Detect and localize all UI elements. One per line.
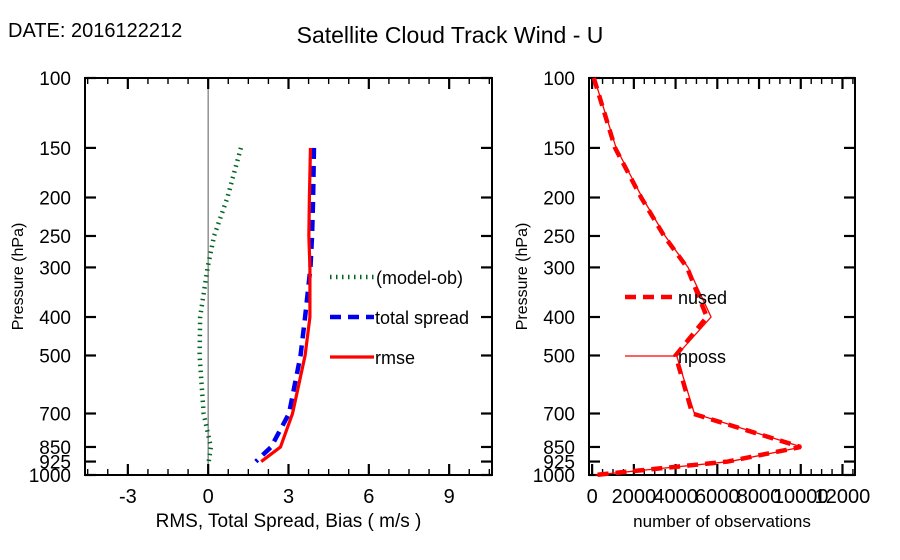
legend-label: nposs <box>678 347 726 367</box>
y-tick-label: 500 <box>39 346 71 367</box>
legend-label: rmse <box>375 348 415 368</box>
x-tick-label: 4000 <box>653 486 698 508</box>
y-tick-label: 1000 <box>533 466 575 487</box>
x-axis-title: RMS, Total Spread, Bias ( m/s ) <box>156 511 422 532</box>
legend-label: total spread <box>375 308 469 328</box>
y-tick-label: 250 <box>543 227 575 248</box>
y-tick-label: 500 <box>543 346 575 367</box>
y-tick-label: 300 <box>543 258 575 279</box>
series-line-nused <box>594 78 801 475</box>
y-tick-label: 250 <box>39 227 71 248</box>
x-tick-label: 0 <box>587 486 598 508</box>
x-tick-label: 6000 <box>695 486 740 508</box>
y-tick-label: 1000 <box>29 466 71 487</box>
y-tick-label: 200 <box>39 189 71 210</box>
left-panel: -30369RMS, Total Spread, Bias ( m/s )100… <box>10 69 492 532</box>
legend-label: (model-ob) <box>376 268 463 288</box>
y-axis-title: Pressure (hPa) <box>10 223 27 331</box>
legend-label: nused <box>678 288 727 308</box>
x-tick-label: 2000 <box>612 486 657 508</box>
series-line-modelob <box>200 148 241 462</box>
y-tick-label: 400 <box>543 308 575 329</box>
x-tick-label: 0 <box>203 486 214 508</box>
y-tick-label: 400 <box>39 308 71 329</box>
y-tick-label: 700 <box>543 405 575 426</box>
x-axis-title: number of observations <box>633 512 811 531</box>
plot-page: DATE: 2016122212 Satellite Cloud Track W… <box>0 0 900 560</box>
y-tick-label: 300 <box>39 258 71 279</box>
x-tick-label: -3 <box>119 486 137 508</box>
y-tick-label: 150 <box>39 139 71 160</box>
y-axis-title: Pressure (hPa) <box>514 223 531 331</box>
y-tick-label: 100 <box>39 69 71 90</box>
y-tick-label: 150 <box>543 139 575 160</box>
series-line-totalspread <box>256 148 314 462</box>
x-tick-label: 9 <box>444 486 455 508</box>
y-tick-label: 200 <box>543 189 575 210</box>
x-tick-label: 6 <box>363 486 374 508</box>
right-panel: 020004000600080001000012000number of obs… <box>514 69 870 531</box>
figure-canvas: -30369RMS, Total Spread, Bias ( m/s )100… <box>0 0 900 560</box>
series-line-rmse <box>261 148 310 462</box>
x-tick-label: 12000 <box>815 486 871 508</box>
y-tick-label: 100 <box>543 69 575 90</box>
y-tick-label: 700 <box>39 405 71 426</box>
plot-frame <box>589 78 855 475</box>
x-tick-label: 3 <box>283 486 294 508</box>
